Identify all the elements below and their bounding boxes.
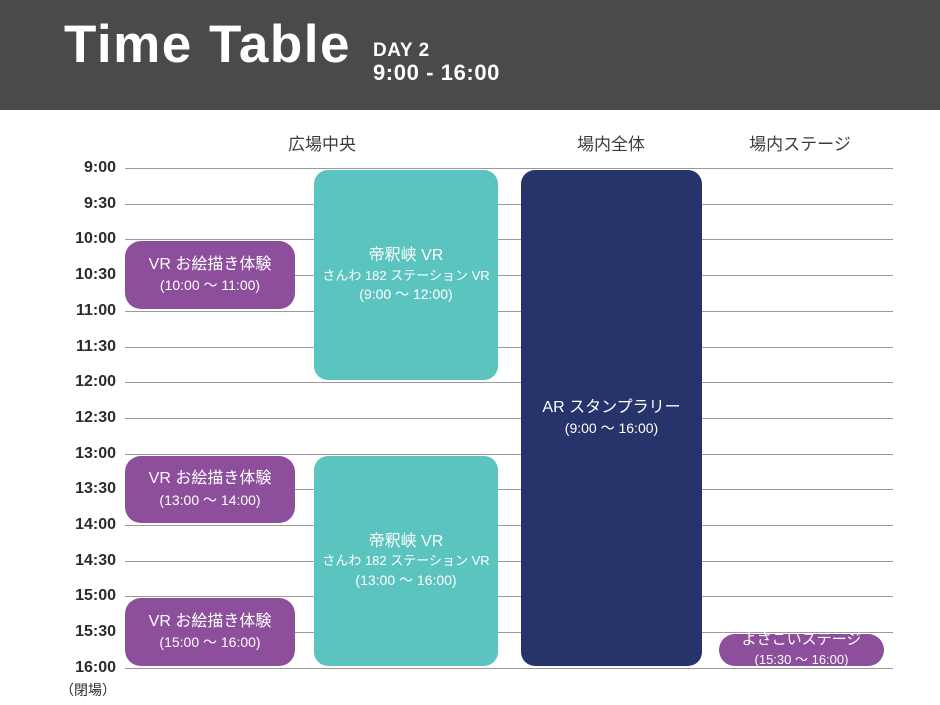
event-time: (13:00 ～ 16:00)	[355, 570, 456, 591]
event-block-yosakoi-stage[interactable]: よさこいステージ(15:30 ～ 16:00)	[719, 634, 884, 666]
time-label: 11:30	[8, 338, 116, 356]
time-label: 13:00	[8, 445, 116, 463]
time-label: 16:00	[8, 659, 116, 677]
event-title: VR お絵描き体験	[149, 254, 272, 276]
header-day-label: DAY 2	[373, 40, 500, 61]
event-title: 帝釈峡 VR	[369, 531, 444, 553]
column-header: 場内全体	[577, 130, 645, 155]
page-title: Time Table	[64, 18, 351, 71]
time-label: 12:30	[8, 409, 116, 427]
grid-line	[125, 347, 893, 348]
grid-line	[125, 382, 893, 383]
event-block-ar-stamp-rally[interactable]: AR スタンプラリー(9:00 ～ 16:00)	[521, 170, 702, 666]
event-block-vr-drawing-evening[interactable]: VR お絵描き体験(15:00 ～ 16:00)	[125, 598, 295, 665]
time-label: 9:30	[8, 195, 116, 213]
event-block-taishakukyo-vr-morning[interactable]: 帝釈峡 VRさんわ 182 ステーション VR(9:00 ～ 12:00)	[314, 170, 498, 380]
time-label: 9:00	[8, 159, 116, 177]
time-axis: 9:009:3010:0010:3011:0011:3012:0012:3013…	[0, 110, 116, 705]
time-label: 11:00	[8, 302, 116, 320]
grid-line	[125, 168, 893, 169]
time-label: 15:30	[8, 623, 116, 641]
column-header: 広場中央	[288, 130, 356, 155]
grid-line	[125, 561, 893, 562]
event-block-taishakukyo-vr-afternoon[interactable]: 帝釈峡 VRさんわ 182 ステーション VR(13:00 ～ 16:00)	[314, 456, 498, 666]
grid-line	[125, 204, 893, 205]
time-label: 12:00	[8, 373, 116, 391]
event-subtitle: さんわ 182 ステーション VR	[322, 267, 489, 285]
event-time: (9:00 ～ 12:00)	[359, 284, 452, 305]
time-label: 14:00	[8, 516, 116, 534]
event-subtitle: さんわ 182 ステーション VR	[322, 552, 489, 570]
event-time: (9:00 ～ 16:00)	[565, 418, 658, 439]
event-time: (10:00 ～ 11:00)	[160, 275, 260, 296]
header-content: Time Table DAY 2 9:00 - 16:00	[64, 18, 500, 92]
time-label: 15:00	[8, 587, 116, 605]
grid-line	[125, 311, 893, 312]
event-title: よさこいステージ	[742, 630, 862, 650]
time-label: 10:00	[8, 230, 116, 248]
closing-note: （閉場）	[8, 680, 116, 700]
event-block-vr-drawing-afternoon[interactable]: VR お絵描き体験(13:00 ～ 14:00)	[125, 456, 295, 523]
event-title: 帝釈峡 VR	[369, 245, 444, 267]
event-time: (15:00 ～ 16:00)	[159, 632, 260, 653]
event-title: VR お絵描き体験	[149, 611, 272, 633]
grid-line	[125, 525, 893, 526]
event-time: (15:30 ～ 16:00)	[755, 650, 849, 670]
header-time-range: 9:00 - 16:00	[373, 61, 500, 86]
time-label: 13:30	[8, 480, 116, 498]
time-label: 14:30	[8, 552, 116, 570]
page-header: Time Table DAY 2 9:00 - 16:00	[0, 0, 940, 110]
header-subtitle: DAY 2 9:00 - 16:00	[373, 40, 500, 86]
column-header: 場内ステージ	[749, 130, 851, 155]
event-time: (13:00 ～ 14:00)	[159, 490, 260, 511]
timetable-board: 広場中央場内全体場内ステージ 9:009:3010:0010:3011:0011…	[0, 110, 940, 705]
event-title: AR スタンプラリー	[542, 397, 680, 419]
grid-line	[125, 418, 893, 419]
event-title: VR お絵描き体験	[149, 468, 272, 490]
time-label: 10:30	[8, 266, 116, 284]
grid-line	[125, 454, 893, 455]
grid-line	[125, 596, 893, 597]
event-block-vr-drawing-morning[interactable]: VR お絵描き体験(10:00 ～ 11:00)	[125, 241, 295, 308]
grid-line	[125, 239, 893, 240]
